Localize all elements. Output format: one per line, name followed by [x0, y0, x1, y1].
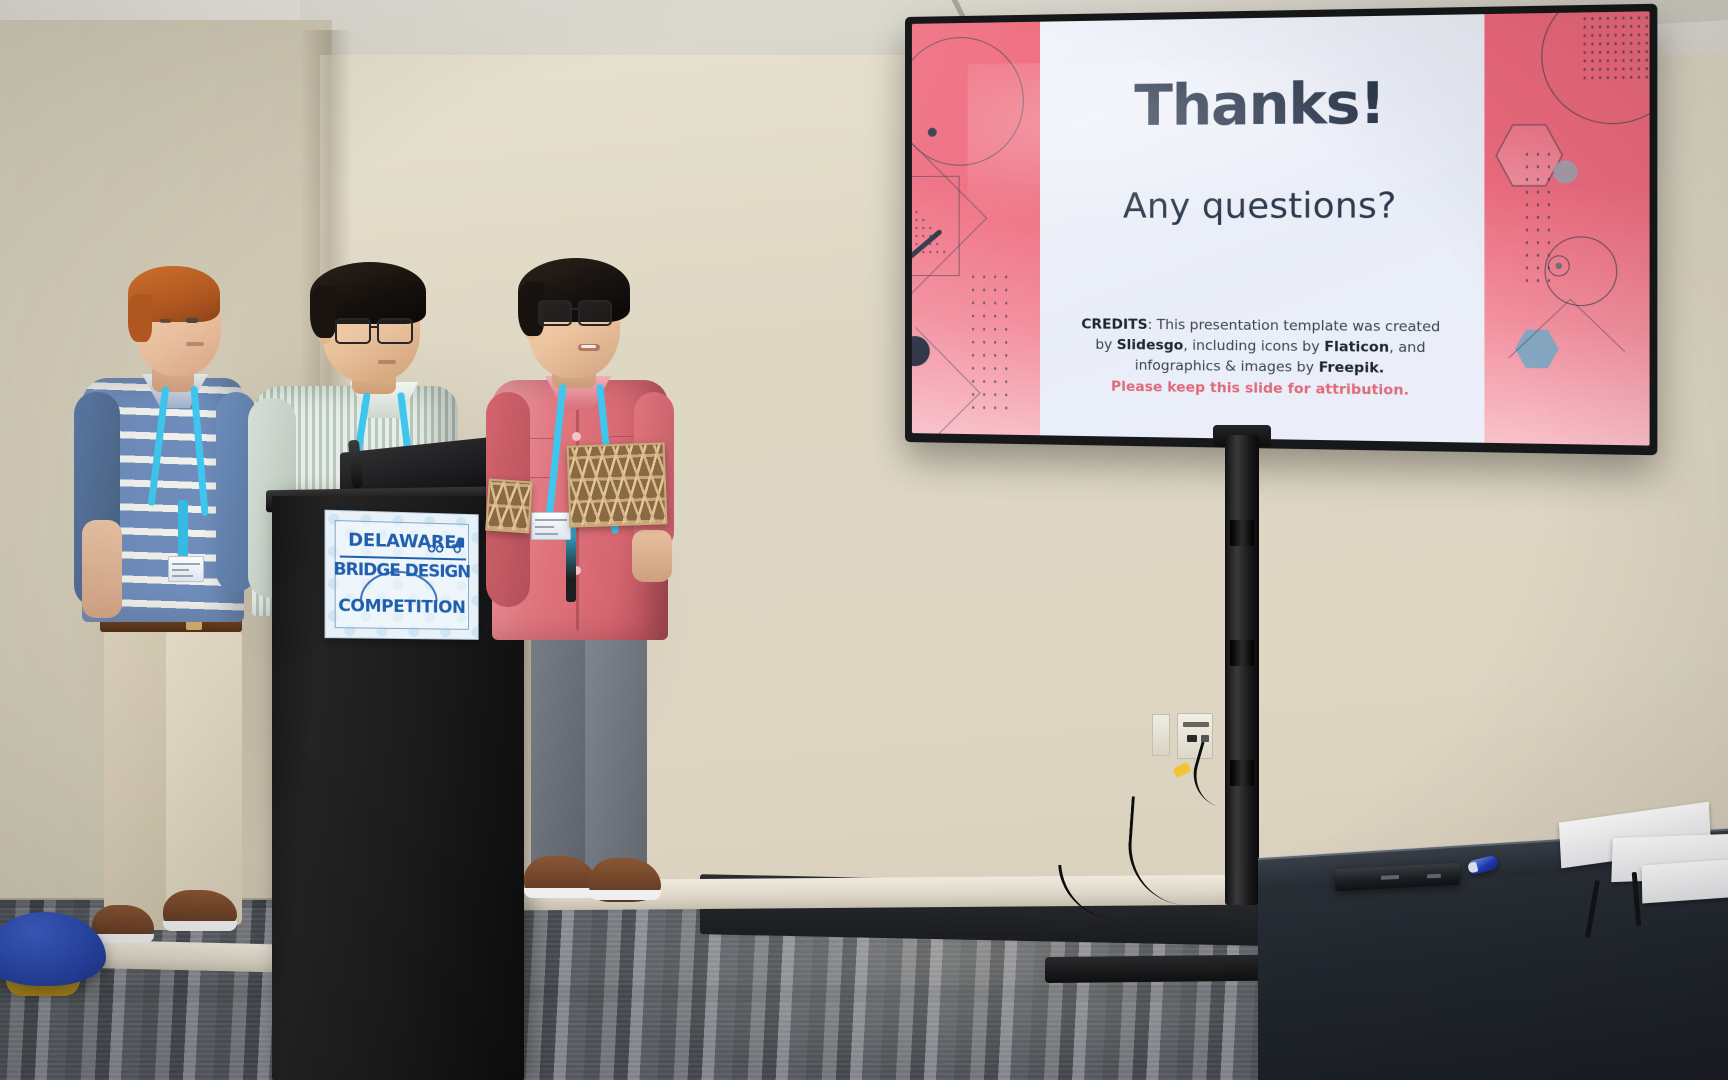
leg	[166, 630, 242, 925]
sign-line-2: BRIDGE DESIGN	[326, 559, 478, 582]
paper-sheet[interactable]	[1642, 859, 1728, 904]
eye	[160, 319, 171, 323]
balsa-bridge-model-secondary	[485, 479, 533, 534]
lanyard	[178, 500, 188, 562]
eye	[186, 318, 198, 323]
triangle-outline-decor	[1508, 299, 1625, 411]
glasses-right-lens	[377, 318, 413, 344]
name-badge	[168, 556, 204, 582]
dot-decor	[1555, 263, 1562, 269]
outlet-slot	[1183, 722, 1209, 727]
badge-line	[172, 575, 193, 577]
shirt-button	[572, 432, 581, 441]
badge-line	[535, 533, 558, 535]
leg	[585, 630, 647, 882]
teeth	[581, 345, 596, 348]
podium-sign: DELAWARE BRIDGE DESIGN COMPETITION	[325, 510, 479, 640]
laptop-port	[1381, 875, 1399, 880]
balsa-bridge-model	[567, 442, 668, 527]
credits-line1: : This presentation template was created	[1148, 317, 1441, 336]
laptop-port	[1427, 874, 1441, 879]
filled-circle-decor	[1553, 160, 1577, 183]
wall-plate	[1152, 714, 1170, 756]
slide-title: Thanks!	[1040, 69, 1484, 139]
credits-line2c: , including icons by	[1183, 337, 1324, 355]
shoe-sole	[524, 888, 596, 898]
circle-outline-decor	[912, 36, 1024, 166]
slide-content: Thanks! Any questions? CREDITS: This pre…	[1040, 14, 1484, 443]
glasses-left-lens	[335, 318, 371, 344]
sign-line-3: COMPETITION	[326, 596, 478, 618]
credits-line2a: by	[1095, 337, 1116, 353]
dot-grid-decor	[1581, 11, 1650, 82]
tv-pole-segment	[1230, 640, 1254, 666]
leg	[531, 630, 589, 890]
forearm	[82, 520, 122, 618]
credits-flaticon: Flaticon	[1324, 339, 1389, 356]
tv-stand-pole	[1225, 435, 1259, 905]
badge-line	[535, 519, 567, 521]
sideburn	[128, 294, 152, 342]
presentation-display[interactable]: Thanks! Any questions? CREDITS: This pre…	[905, 4, 1657, 456]
tv-bezel: Thanks! Any questions? CREDITS: This pre…	[912, 11, 1650, 445]
credits-line3a: infographics & images by	[1135, 357, 1319, 375]
marker-cap	[1467, 862, 1478, 874]
sign-line-1: DELAWARE	[326, 529, 478, 554]
sideburn	[310, 286, 336, 338]
tv-pole-segment	[1230, 760, 1254, 786]
slide-subtitle: Any questions?	[1040, 185, 1484, 227]
slide-credits: CREDITS: This presentation template was …	[1064, 315, 1458, 380]
mouth	[186, 342, 204, 346]
credits-freepik: Freepik.	[1319, 359, 1385, 376]
scene-root: Thanks! Any questions? CREDITS: This pre…	[0, 0, 1728, 1080]
name-badge	[531, 512, 571, 540]
mouth	[378, 360, 396, 364]
slide-thanks: Thanks! Any questions? CREDITS: This pre…	[912, 11, 1650, 445]
hand	[632, 530, 672, 582]
slide-left-decor-band	[912, 22, 1040, 436]
slide-right-decor-band	[1484, 11, 1649, 445]
shoe-sole	[589, 890, 661, 900]
glasses-right-lens	[578, 300, 612, 326]
dot-decor	[928, 128, 937, 137]
glasses-bridge	[570, 308, 580, 310]
credits-label: CREDITS	[1081, 316, 1147, 333]
tv-pole-segment	[1230, 520, 1254, 546]
badge-line	[535, 526, 554, 528]
glasses-left-lens	[538, 300, 572, 326]
credits-slidesgo: Slidesgo	[1117, 337, 1184, 354]
slide-attribution: Please keep this slide for attribution.	[1064, 378, 1458, 400]
badge-line	[172, 563, 200, 565]
outlet-port	[1187, 735, 1197, 742]
glasses-bridge	[369, 326, 379, 328]
shoe-sole	[163, 921, 237, 931]
credits-line2e: , and	[1389, 339, 1425, 356]
badge-line	[172, 569, 189, 571]
